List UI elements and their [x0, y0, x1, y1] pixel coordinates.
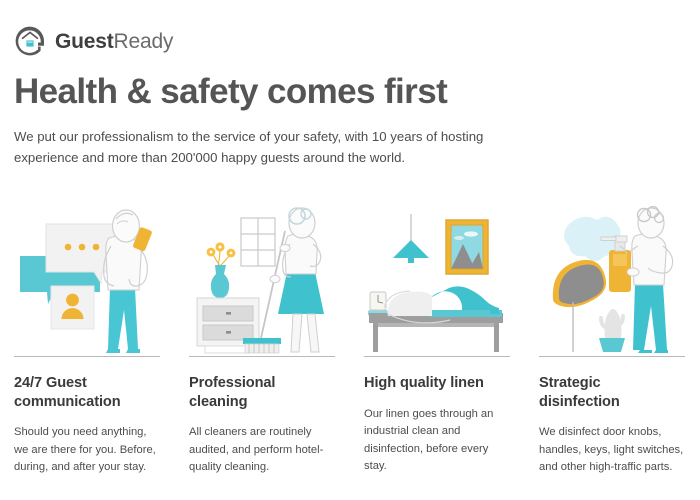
professional-cleaning-illustration — [189, 206, 335, 356]
brand-name-bold: Guest — [55, 30, 114, 53]
brand-name: GuestReady — [55, 31, 173, 52]
brand-logo-lockup[interactable]: GuestReady — [14, 24, 173, 58]
brand-name-light: Ready — [114, 30, 174, 53]
window-icon — [241, 218, 275, 266]
ground-line — [364, 356, 510, 357]
feature-title: High quality linen — [364, 374, 510, 393]
feature-columns: 24/7 Guest communication Should you need… — [0, 206, 700, 477]
pendant-lamp-icon — [393, 214, 429, 263]
typing-dots-icon — [65, 244, 100, 251]
feature-title: Professional cleaning — [189, 374, 335, 411]
feature-body: We disinfect door knobs, handles, keys, … — [539, 424, 685, 476]
ground-line — [14, 356, 160, 357]
feature-title: 24/7 Guest communication — [14, 374, 160, 411]
feature-body: All cleaners are routinely audited, and … — [189, 424, 335, 476]
user-avatar-card-icon — [51, 286, 94, 329]
high-quality-linen-illustration — [364, 206, 510, 356]
ground-line — [189, 356, 335, 357]
egg-chair-icon — [553, 260, 606, 352]
feature-column-strategic-disinfection: Strategic disinfection We disinfect door… — [525, 206, 700, 477]
feature-column-professional-cleaning: Professional cleaning All cleaners are r… — [175, 206, 350, 477]
house-in-circle-logo-icon — [14, 25, 46, 57]
feature-column-guest-communication: 24/7 Guest communication Should you need… — [0, 206, 175, 477]
flower-vase-icon — [207, 242, 236, 298]
feature-column-high-quality-linen: High quality linen Our linen goes throug… — [350, 206, 525, 477]
framed-mountain-picture-icon — [446, 220, 488, 274]
feature-body: Should you need anything, we are there f… — [14, 424, 160, 476]
cactus-plant-icon — [599, 309, 625, 352]
mop-head-icon — [243, 338, 281, 353]
bed-icon — [369, 313, 503, 352]
page-title: Health & safety comes first — [14, 73, 447, 111]
infographic-page: GuestReady Health & safety comes first W… — [0, 0, 700, 500]
guest-communication-illustration — [14, 206, 160, 356]
feature-title: Strategic disinfection — [539, 374, 685, 411]
ground-line — [539, 356, 685, 357]
strategic-disinfection-illustration — [539, 206, 685, 356]
page-subtitle: We put our professionalism to the servic… — [14, 126, 514, 169]
feature-body: Our linen goes through an industrial cle… — [364, 406, 510, 476]
